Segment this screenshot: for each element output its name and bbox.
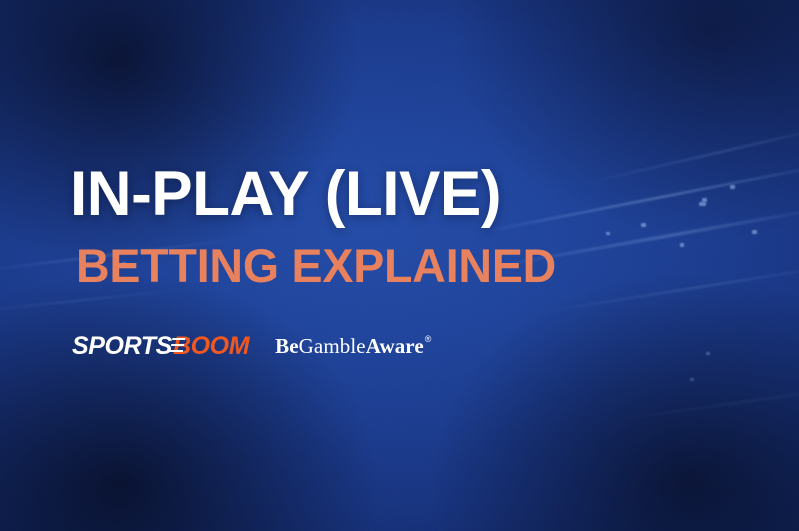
hero-banner: IN-PLAY (LIVE) BETTING EXPLAINED SPORTS …	[0, 0, 799, 531]
hero-content: IN-PLAY (LIVE) BETTING EXPLAINED SPORTS …	[0, 0, 799, 531]
begambleaware-aware: Aware	[366, 334, 424, 358]
begambleaware-gamble: Gamble	[299, 334, 366, 358]
begambleaware-logo[interactable]: BeGambleAware®	[275, 336, 430, 357]
hero-headline: IN-PLAY (LIVE)	[70, 163, 501, 226]
sportsboom-logo[interactable]: SPORTS BOOM	[72, 334, 249, 359]
hero-subhead: BETTING EXPLAINED	[76, 242, 556, 289]
logo-row: SPORTS BOOM BeGambleAware®	[72, 334, 431, 359]
sportsboom-logo-sports: SPORTS	[72, 334, 172, 359]
registered-trademark-icon: ®	[425, 334, 432, 344]
begambleaware-be: Be	[275, 334, 299, 358]
sportsboom-logo-boom: BOOM	[173, 334, 249, 359]
